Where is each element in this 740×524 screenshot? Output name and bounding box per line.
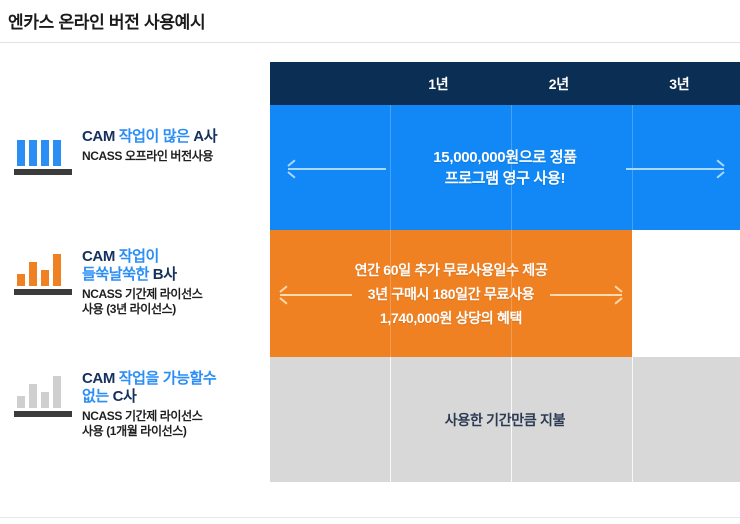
chart-row-a: 15,000,000원으로 정품 프로그램 영구 사용! (270, 105, 740, 230)
legend-title: CAM 작업이 많은 A사 (82, 128, 217, 146)
icon-baseline (14, 411, 72, 417)
header-cell-year-3: 3년 (619, 62, 740, 105)
chart-header-row: 1년 2년 3년 (270, 62, 740, 105)
legend-title-highlight: 없는 (82, 388, 113, 405)
icon-bars (14, 374, 76, 408)
chart-row-b-body: 연간 60일 추가 무료사용일수 제공 3년 구매시 180일간 무료사용 1,… (270, 230, 632, 357)
icon-bar (41, 270, 49, 286)
icon-baseline (14, 169, 72, 175)
bar-chart-even-icon (14, 132, 76, 175)
icon-bar (29, 140, 37, 166)
icon-bar (17, 396, 25, 408)
arrow-right-icon (550, 294, 622, 296)
chart-row-b-text-line: 연간 60일 추가 무료사용일수 제공 (355, 258, 548, 282)
legend-title: CAM 작업이 들쑥날쑥한 B사 (82, 248, 202, 284)
chart-row-a-text-line: 15,000,000원으로 정품 (433, 147, 576, 168)
legend-text: CAM 작업이 많은 A사 NCASS 오프라인 버전사용 (76, 128, 217, 164)
bar-chart-varied-icon (14, 252, 76, 295)
legend-title-part: A사 (193, 128, 217, 145)
legend-title-highlight: 작업이 (119, 248, 159, 265)
icon-bars (14, 132, 76, 166)
header-cell-year-2: 2년 (499, 62, 620, 105)
chart-row-a-text: 15,000,000원으로 정품 프로그램 영구 사용! (433, 147, 576, 189)
chart-row-b-text: 연간 60일 추가 무료사용일수 제공 3년 구매시 180일간 무료사용 1,… (355, 258, 548, 330)
legend-subtitle-line: NCASS 기간제 라이선스 (82, 287, 202, 302)
chart-row-c-text: 사용한 기간만큼 지불 (445, 410, 565, 430)
chart-row-c-body: 사용한 기간만큼 지불 (270, 357, 740, 482)
header-cell-blank (270, 62, 378, 105)
arrow-left-icon (288, 168, 386, 170)
legend-subtitle-line: 사용 (3년 라이선스) (82, 302, 202, 317)
icon-bar (29, 262, 37, 286)
legend-text: CAM 작업이 들쑥날쑥한 B사 NCASS 기간제 라이선스 사용 (3년 라… (76, 248, 202, 317)
chart-row-a-body: 15,000,000원으로 정품 프로그램 영구 사용! (270, 105, 740, 230)
icon-bar (29, 384, 37, 408)
icon-bar (53, 376, 61, 408)
title-divider (0, 42, 740, 43)
legend-subtitle-line: 사용 (1개월 라이선스) (82, 424, 216, 439)
arrow-right-icon (626, 168, 724, 170)
legend-title-part: CAM (82, 248, 119, 265)
chart-row-a-text-line: 프로그램 영구 사용! (433, 168, 576, 189)
icon-bar (41, 140, 49, 166)
page-title: 엔카스 온라인 버전 사용예시 (8, 8, 205, 33)
icon-bar (53, 254, 61, 286)
legend-row-c: CAM 작업을 가능할수 없는 C사 NCASS 기간제 라이선스 사용 (1개… (0, 370, 270, 439)
legend-title-part: CAM (82, 128, 119, 145)
legend-title-part: CAM (82, 370, 119, 387)
chart-row-c: 사용한 기간만큼 지불 (270, 357, 740, 482)
legend-title-highlight: 들쑥날쑥한 (82, 266, 153, 283)
legend-text: CAM 작업을 가능할수 없는 C사 NCASS 기간제 라이선스 사용 (1개… (76, 370, 216, 439)
bottom-divider (0, 517, 740, 518)
timeline-chart: 1년 2년 3년 15,000,000원으로 정품 프로그램 영구 사용! 연간… (270, 62, 740, 482)
icon-bars (14, 252, 76, 286)
legend-subtitle-line: NCASS 오프라인 버전사용 (82, 149, 217, 164)
legend-row-a: CAM 작업이 많은 A사 NCASS 오프라인 버전사용 (0, 128, 270, 175)
legend-title: CAM 작업을 가능할수 없는 C사 (82, 370, 216, 406)
chart-row-b: 연간 60일 추가 무료사용일수 제공 3년 구매시 180일간 무료사용 1,… (270, 230, 632, 357)
legend-title-highlight: 작업이 많은 (119, 128, 194, 145)
header-cell-year-1: 1년 (378, 62, 499, 105)
bar-chart-muted-icon (14, 374, 76, 417)
legend-title-part: B사 (153, 266, 177, 283)
icon-bar (17, 274, 25, 286)
icon-bar (53, 140, 61, 166)
icon-bar (41, 392, 49, 408)
chart-row-b-text-line: 1,740,000원 상당의 혜택 (355, 306, 548, 330)
legend-row-b: CAM 작업이 들쑥날쑥한 B사 NCASS 기간제 라이선스 사용 (3년 라… (0, 248, 270, 317)
chart-row-b-text-line: 3년 구매시 180일간 무료사용 (355, 282, 548, 306)
arrow-left-icon (280, 294, 352, 296)
icon-bar (17, 140, 25, 166)
legend-title-part: C사 (113, 388, 137, 405)
legend-subtitle-line: NCASS 기간제 라이선스 (82, 409, 216, 424)
legend-title-highlight: 작업을 가능할수 (119, 370, 217, 387)
icon-baseline (14, 289, 72, 295)
